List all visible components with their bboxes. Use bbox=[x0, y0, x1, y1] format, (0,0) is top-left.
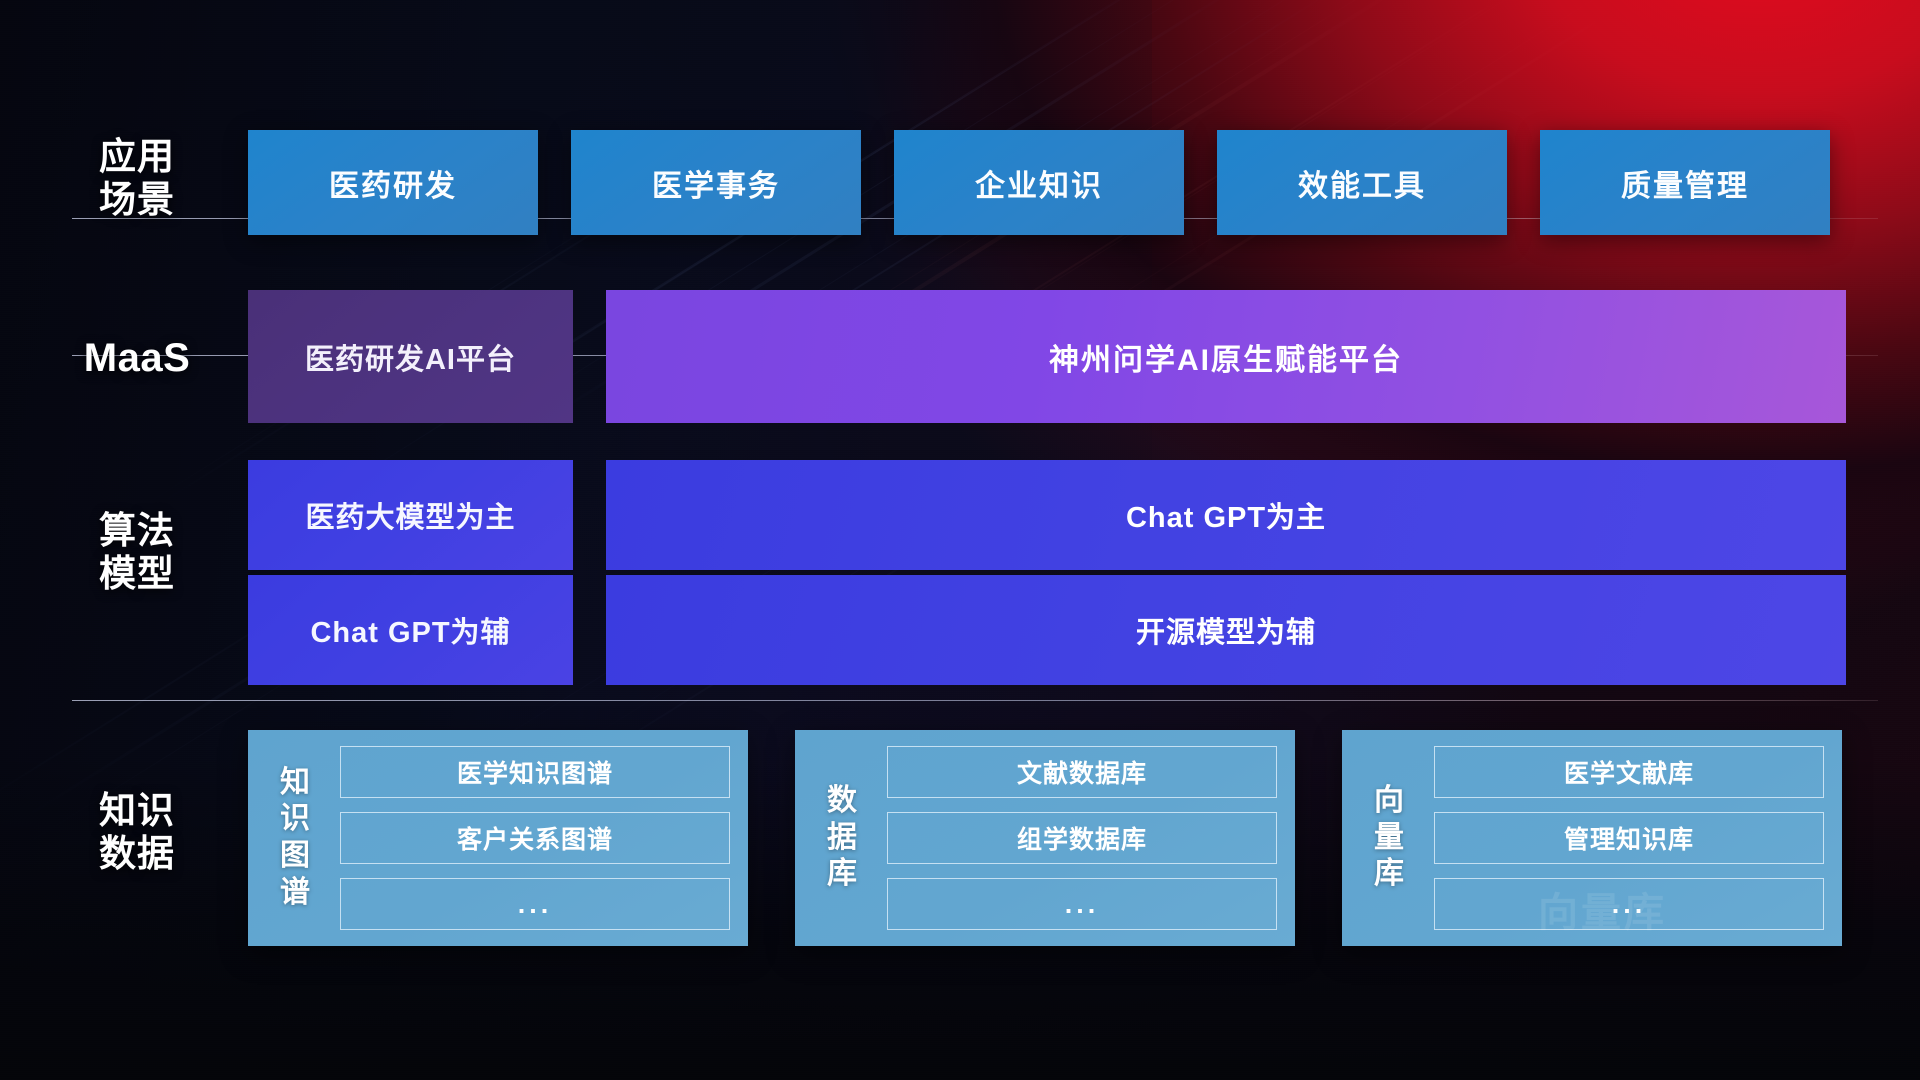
vlabel-char: 数 bbox=[827, 783, 857, 820]
knowledge-group-items: 文献数据库 组学数据库 ... bbox=[887, 746, 1277, 930]
maas-card-medicine-ai-platform[interactable]: 医药研发AI平台 bbox=[248, 290, 573, 423]
scenario-card-enterprise-knowledge[interactable]: 企业知识 bbox=[894, 130, 1184, 235]
knowledge-item-medical-knowledge-graph[interactable]: 医学知识图谱 bbox=[340, 746, 730, 798]
scenario-card-quality-management[interactable]: 质量管理 bbox=[1540, 130, 1830, 235]
vlabel-char: 量 bbox=[1374, 820, 1404, 857]
algo-card-chatgpt-secondary[interactable]: Chat GPT为辅 bbox=[248, 575, 573, 685]
knowledge-item-customer-relation-graph[interactable]: 客户关系图谱 bbox=[340, 812, 730, 864]
knowledge-group-vertical-label: 向 量 库 bbox=[1358, 746, 1420, 930]
knowledge-item-literature-database[interactable]: 文献数据库 bbox=[887, 746, 1277, 798]
application-scenario-cards: 医药研发 医学事务 企业知识 效能工具 质量管理 bbox=[248, 130, 1830, 235]
vlabel-char: 识 bbox=[280, 801, 310, 838]
row-label-line: MaaS bbox=[72, 335, 202, 381]
knowledge-item-more[interactable]: ... bbox=[887, 878, 1277, 930]
vlabel-char: 图 bbox=[280, 838, 310, 875]
algorithm-row-secondary: Chat GPT为辅 开源模型为辅 bbox=[248, 575, 1846, 685]
vlabel-char: 库 bbox=[827, 856, 857, 893]
scenario-card-efficiency-tools[interactable]: 效能工具 bbox=[1217, 130, 1507, 235]
knowledge-data-groups: 知 识 图 谱 医学知识图谱 客户关系图谱 ... 数 据 库 bbox=[248, 730, 1842, 946]
scenario-card-medicine-rnd[interactable]: 医药研发 bbox=[248, 130, 538, 235]
algorithm-row-primary: 医药大模型为主 Chat GPT为主 bbox=[248, 460, 1846, 570]
knowledge-item-management-knowledge-store[interactable]: 管理知识库 bbox=[1434, 812, 1824, 864]
diagram-content: 应用 场景 医药研发 医学事务 企业知识 效能工具 质量管理 MaaS 医药研发… bbox=[0, 0, 1920, 1080]
algo-card-opensource-model-secondary[interactable]: 开源模型为辅 bbox=[606, 575, 1846, 685]
algo-card-medicine-large-model-primary[interactable]: 医药大模型为主 bbox=[248, 460, 573, 570]
diagram-canvas: 应用 场景 医药研发 医学事务 企业知识 效能工具 质量管理 MaaS 医药研发… bbox=[0, 0, 1920, 1080]
vlabel-char: 向 bbox=[1374, 783, 1404, 820]
row-label-line: 算法 bbox=[72, 510, 202, 553]
maas-platform-row: 医药研发AI平台 神州问学AI原生赋能平台 bbox=[248, 290, 1846, 423]
row-label-maas: MaaS bbox=[72, 335, 202, 381]
row-label-line: 知识 bbox=[72, 790, 202, 833]
knowledge-group-knowledge-graph: 知 识 图 谱 医学知识图谱 客户关系图谱 ... bbox=[248, 730, 748, 946]
knowledge-item-more[interactable]: ... bbox=[1434, 878, 1824, 930]
vlabel-char: 知 bbox=[280, 765, 310, 802]
row-label-line: 场景 bbox=[72, 179, 202, 222]
knowledge-group-items: 医学文献库 管理知识库 ... bbox=[1434, 746, 1824, 930]
vlabel-char: 库 bbox=[1374, 856, 1404, 893]
row-label-line: 应用 bbox=[72, 136, 202, 179]
vlabel-char: 谱 bbox=[280, 875, 310, 912]
row-label-line: 模型 bbox=[72, 553, 202, 596]
vlabel-char: 据 bbox=[827, 820, 857, 857]
maas-card-shenzhou-wenxue-platform[interactable]: 神州问学AI原生赋能平台 bbox=[606, 290, 1846, 423]
knowledge-group-vector-store: 向 量 库 医学文献库 管理知识库 ... bbox=[1342, 730, 1842, 946]
scenario-card-medical-affairs[interactable]: 医学事务 bbox=[571, 130, 861, 235]
algo-card-chatgpt-primary[interactable]: Chat GPT为主 bbox=[606, 460, 1846, 570]
row-label-line: 数据 bbox=[72, 833, 202, 876]
row-label-knowledge-data: 知识 数据 bbox=[72, 790, 202, 876]
divider-algorithms-knowledge bbox=[72, 700, 1878, 701]
knowledge-item-omics-database[interactable]: 组学数据库 bbox=[887, 812, 1277, 864]
knowledge-group-database: 数 据 库 文献数据库 组学数据库 ... bbox=[795, 730, 1295, 946]
knowledge-group-vertical-label: 知 识 图 谱 bbox=[264, 746, 326, 930]
knowledge-group-vertical-label: 数 据 库 bbox=[811, 746, 873, 930]
knowledge-item-more[interactable]: ... bbox=[340, 878, 730, 930]
row-label-algorithm-models: 算法 模型 bbox=[72, 510, 202, 596]
knowledge-item-medical-literature-store[interactable]: 医学文献库 bbox=[1434, 746, 1824, 798]
knowledge-group-items: 医学知识图谱 客户关系图谱 ... bbox=[340, 746, 730, 930]
row-label-application-scenarios: 应用 场景 bbox=[72, 136, 202, 222]
